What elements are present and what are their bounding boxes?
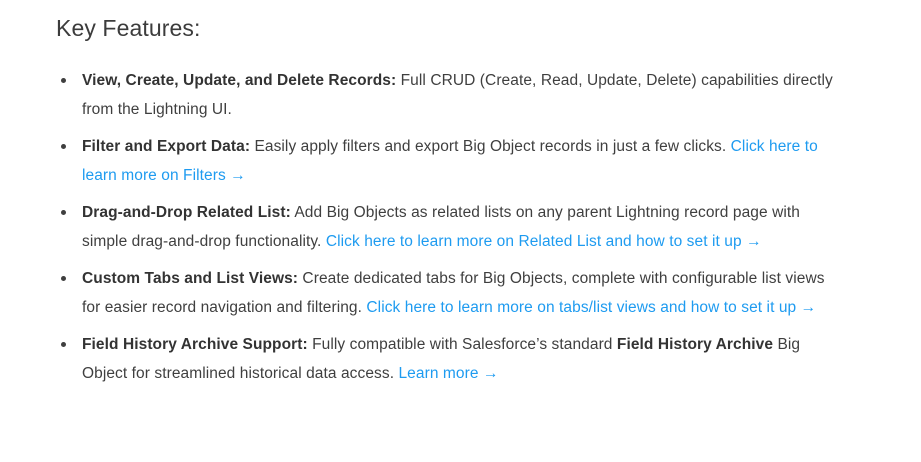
- list-item: Drag-and-Drop Related List: Add Big Obje…: [56, 198, 846, 256]
- feature-term: View, Create, Update, and Delete Records…: [82, 72, 396, 89]
- bullet-icon: [61, 342, 66, 347]
- feature-body: Easily apply filters and export Big Obje…: [250, 138, 731, 155]
- feature-term: Field History Archive Support:: [82, 336, 308, 353]
- feature-term: Drag-and-Drop Related List:: [82, 204, 291, 221]
- feature-term: Filter and Export Data:: [82, 138, 250, 155]
- page-title: Key Features:: [56, 12, 200, 44]
- tabs-list-views-learn-more-link[interactable]: Click here to learn more on tabs/list vi…: [366, 299, 816, 316]
- key-features-section: Key Features: View, Create, Update, and …: [0, 0, 921, 462]
- arrow-right-icon: →: [230, 167, 246, 184]
- link-label: Click here to learn more on tabs/list vi…: [366, 299, 796, 316]
- list-item: View, Create, Update, and Delete Records…: [56, 66, 846, 124]
- list-item: Field History Archive Support: Fully com…: [56, 330, 846, 388]
- arrow-right-icon: →: [746, 233, 762, 250]
- bullet-icon: [61, 276, 66, 281]
- arrow-right-icon: →: [483, 365, 499, 382]
- arrow-right-icon: →: [801, 299, 817, 316]
- feature-body: Fully compatible with Salesforce’s stand…: [308, 336, 617, 353]
- bullet-icon: [61, 210, 66, 215]
- feature-list: View, Create, Update, and Delete Records…: [56, 66, 846, 388]
- field-history-learn-more-link[interactable]: Learn more →: [398, 365, 498, 382]
- related-list-learn-more-link[interactable]: Click here to learn more on Related List…: [326, 233, 762, 250]
- link-label: Learn more: [398, 365, 478, 382]
- bullet-icon: [61, 144, 66, 149]
- bullet-icon: [61, 78, 66, 83]
- link-label: Click here to learn more on Related List…: [326, 233, 742, 250]
- list-item: Custom Tabs and List Views: Create dedic…: [56, 264, 846, 322]
- list-item: Filter and Export Data: Easily apply fil…: [56, 132, 846, 190]
- feature-inline-bold: Field History Archive: [617, 336, 773, 353]
- feature-term: Custom Tabs and List Views:: [82, 270, 298, 287]
